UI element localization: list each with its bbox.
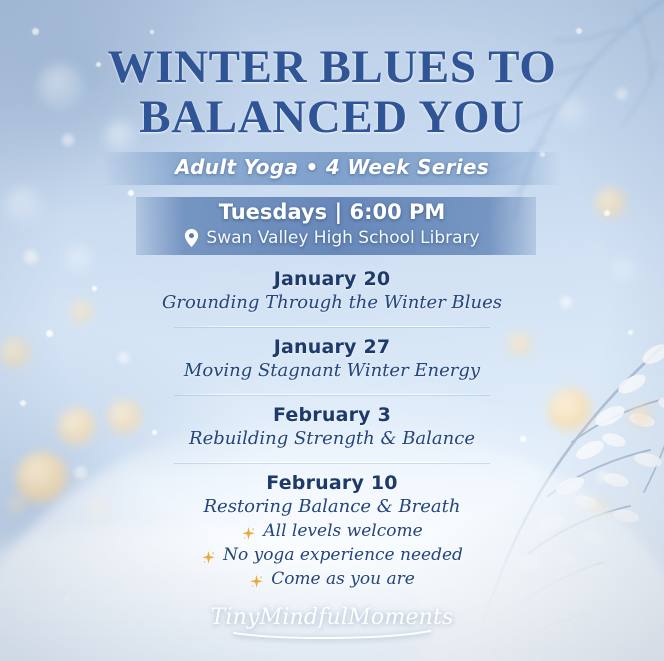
sparkle-icon: [201, 548, 216, 563]
session-date: February 3: [0, 404, 664, 426]
session-item: February 3 Rebuilding Strength & Balance: [0, 401, 664, 453]
perk-label: No yoga experience needed: [223, 543, 463, 567]
sparkle-icon: [249, 572, 264, 587]
session-item: January 20 Grounding Through the Winter …: [0, 265, 664, 317]
poster-canvas: WINTER BLUES TO BALANCED YOU Adult Yoga …: [0, 0, 664, 661]
sparkle-icon: [241, 524, 256, 539]
perk-label: Come as you are: [271, 567, 415, 591]
session-item: February 10 Restoring Balance & Breath: [0, 469, 664, 521]
poster-title: WINTER BLUES TO BALANCED YOU: [0, 44, 664, 140]
perk-item: All levels welcome: [0, 519, 664, 543]
session-desc: Grounding Through the Winter Blues: [0, 292, 664, 313]
session-divider: [174, 394, 490, 395]
session-desc: Moving Stagnant Winter Energy: [0, 360, 664, 381]
session-desc: Restoring Balance & Breath: [0, 496, 664, 517]
session-date: January 20: [0, 268, 664, 290]
brand-logo: TinyMindfulMoments: [0, 598, 664, 647]
svg-text:TinyMindfulMoments: TinyMindfulMoments: [212, 605, 452, 630]
perk-label: All levels welcome: [263, 519, 422, 543]
schedule-time: Tuesdays | 6:00 PM: [0, 200, 664, 224]
perk-item: No yoga experience needed: [0, 543, 664, 567]
title-line-2: BALANCED YOU: [0, 94, 664, 140]
session-list: January 20 Grounding Through the Winter …: [0, 265, 664, 521]
title-line-1: WINTER BLUES TO: [108, 41, 557, 93]
map-pin-icon: [184, 229, 199, 247]
session-divider: [174, 326, 490, 327]
poster-subtitle: Adult Yoga • 4 Week Series: [0, 155, 664, 179]
session-desc: Rebuilding Strength & Balance: [0, 428, 664, 449]
session-divider: [174, 462, 490, 463]
perk-item: Come as you are: [0, 567, 664, 591]
session-date: January 27: [0, 336, 664, 358]
schedule-location: Swan Valley High School Library: [0, 228, 664, 248]
session-date: February 10: [0, 472, 664, 494]
session-item: January 27 Moving Stagnant Winter Energy: [0, 333, 664, 385]
location-label: Swan Valley High School Library: [206, 228, 479, 248]
brand-logo-script: TinyMindfulMoments: [212, 598, 452, 642]
perk-list: All levels welcome No yoga experience ne…: [0, 519, 664, 591]
